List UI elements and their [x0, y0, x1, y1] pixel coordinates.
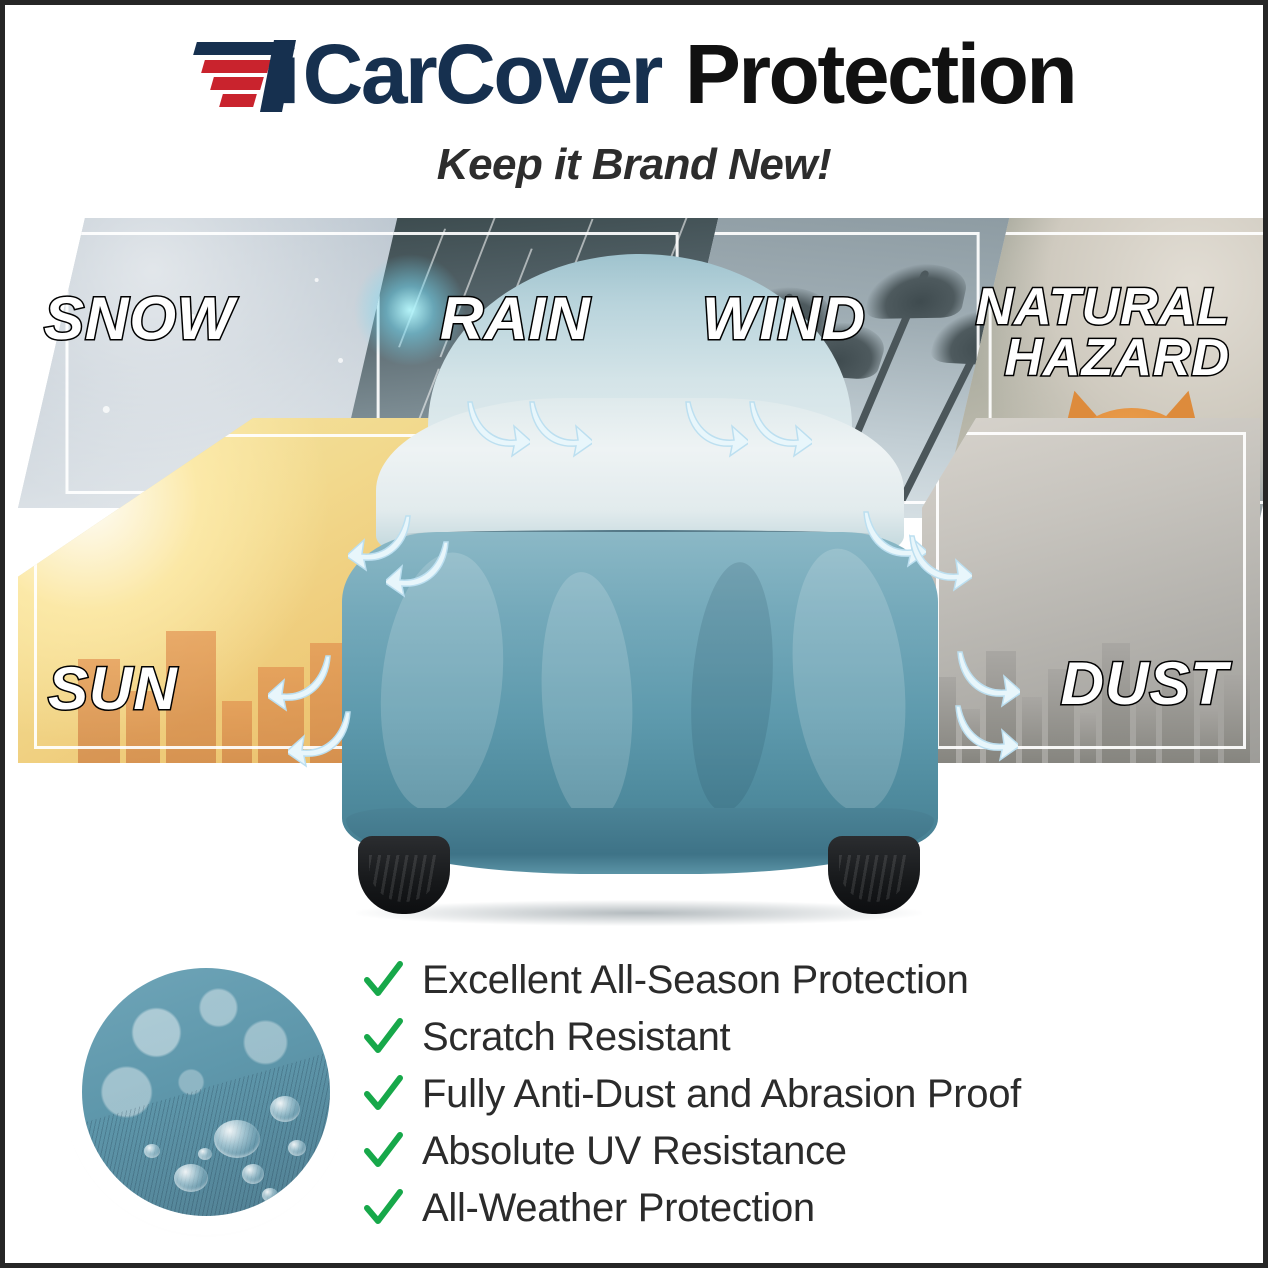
feature-label: Fully Anti-Dust and Abrasion Proof	[422, 1072, 1021, 1117]
feature-label: Absolute UV Resistance	[422, 1129, 847, 1174]
water-beading-swatch	[72, 958, 340, 1226]
feature-item: Fully Anti-Dust and Abrasion Proof	[362, 1066, 1242, 1123]
benefit-collage: ❄	[10, 210, 1268, 945]
feature-label: All-Weather Protection	[422, 1186, 815, 1231]
curved-deflect-arrow-icon	[954, 700, 1018, 762]
marketing-banner: i CarCover Protection Keep it Brand New!…	[0, 0, 1268, 1268]
green-check-icon	[362, 1017, 404, 1059]
curved-deflect-arrow-icon	[908, 530, 972, 592]
panel-label-sun: SUN	[48, 660, 178, 719]
curved-deflect-arrow-icon	[268, 650, 332, 712]
panel-label-wind: WIND	[702, 290, 866, 349]
brand-suffix: Protection	[685, 32, 1075, 116]
brand-lockup: i CarCover Protection	[5, 31, 1263, 117]
feature-list: Excellent All-Season Protection Scratch …	[362, 952, 1242, 1237]
tagline: Keep it Brand New!	[5, 140, 1263, 190]
curved-deflect-arrow-icon	[684, 396, 748, 458]
icarcover-flag-logo-icon	[193, 36, 285, 112]
curved-deflect-arrow-icon	[528, 396, 592, 458]
green-check-icon	[362, 1131, 404, 1173]
green-check-icon	[362, 1074, 404, 1116]
panel-label-natural-hazard: NATURAL HAZARD	[976, 282, 1230, 384]
features-section: Excellent All-Season Protection Scratch …	[10, 940, 1268, 1268]
feature-item: All-Weather Protection	[362, 1180, 1242, 1237]
curved-deflect-arrow-icon	[466, 396, 530, 458]
feature-label: Excellent All-Season Protection	[422, 958, 969, 1003]
feature-item: Excellent All-Season Protection	[362, 952, 1242, 1009]
curved-deflect-arrow-icon	[288, 706, 352, 768]
panel-label-rain: RAIN	[440, 290, 591, 349]
feature-item: Absolute UV Resistance	[362, 1123, 1242, 1180]
feature-label: Scratch Resistant	[422, 1015, 730, 1060]
green-check-icon	[362, 1188, 404, 1230]
curved-deflect-arrow-icon	[956, 646, 1020, 708]
brand-name: CarCover	[303, 32, 661, 116]
green-check-icon	[362, 960, 404, 1002]
panel-label-snow: SNOW	[44, 290, 235, 349]
panel-label-dust: DUST	[1061, 655, 1228, 714]
curved-deflect-arrow-icon	[386, 536, 450, 598]
feature-item: Scratch Resistant	[362, 1009, 1242, 1066]
header: i CarCover Protection Keep it Brand New!	[5, 5, 1263, 210]
curved-deflect-arrow-icon	[748, 396, 812, 458]
